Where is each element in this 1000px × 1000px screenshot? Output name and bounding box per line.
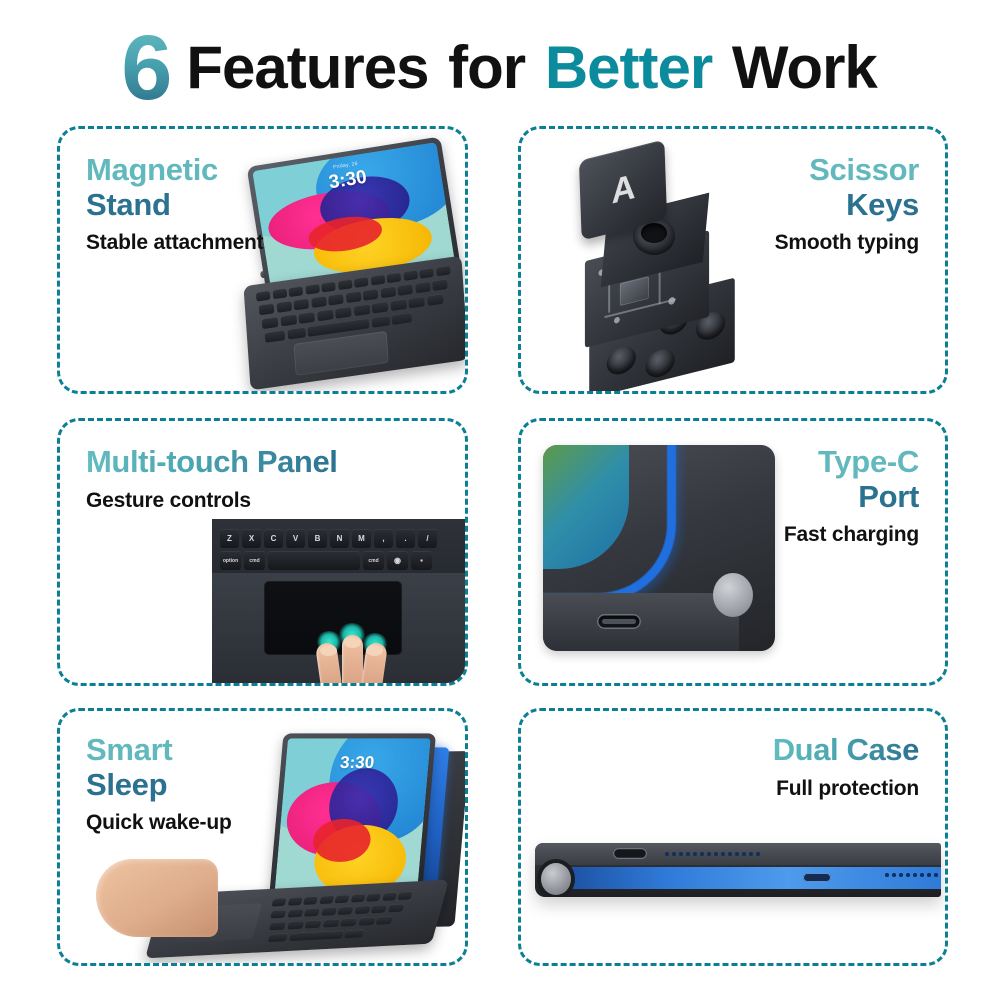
key-v: V [286, 529, 305, 548]
card2-text-block: Scissor Keys Smooth typing [775, 153, 919, 255]
key-x: X [242, 529, 261, 548]
title-word-for: for [448, 34, 525, 101]
key-option: option [220, 551, 241, 570]
key-z: Z [220, 529, 239, 548]
key-arrow: ▪ [411, 551, 432, 570]
card5-title-line2: Sleep [86, 768, 232, 803]
page-header: 6 Features for Better Work [0, 22, 1000, 112]
key-post-icon [646, 346, 675, 380]
key-n: N [330, 529, 349, 548]
card2-title-line2: Keys [775, 188, 919, 223]
card4-subtitle: Fast charging [784, 523, 919, 547]
card4-artwork [543, 445, 775, 651]
card6-text-block: Dual Case Full protection [773, 733, 919, 801]
card4-text-block: Type-C Port Fast charging [784, 445, 919, 547]
title-word-better: Better [545, 34, 712, 101]
card5-subtitle: Quick wake-up [86, 811, 232, 835]
keyboard-row [269, 916, 393, 930]
speaker-grille-icon [665, 852, 760, 856]
title-word-features: Features [186, 34, 428, 101]
feature-card-type-c-port[interactable]: Type-C Port Fast charging [518, 418, 948, 686]
key-period: . [396, 529, 415, 548]
hand-icon [96, 859, 218, 937]
key-spacebar [268, 551, 360, 570]
tablet-screen: 3:30 [273, 738, 430, 905]
key-post-icon [607, 344, 636, 378]
tablet-blue-edge [559, 867, 941, 889]
card5-title-line1: Smart [86, 733, 232, 768]
key-b: B [308, 529, 327, 548]
page-title: Features for Better Work [184, 33, 878, 102]
speaker-grille-icon [885, 873, 938, 877]
keyboard-trackpad [293, 331, 388, 376]
card1-subtitle: Stable attachment [86, 231, 263, 255]
tablet-wallpaper: 3:30 [273, 738, 430, 905]
key-c: C [264, 529, 283, 548]
title-word-work: Work [732, 34, 877, 101]
key-comma: , [374, 529, 393, 548]
key-hub-hole-icon [641, 223, 667, 243]
card3-subtitle: Gesture controls [86, 489, 338, 513]
key-command-right: cmd [363, 551, 384, 570]
lockscreen-clock: 3:30 [285, 753, 429, 773]
card6-subtitle: Full protection [773, 777, 919, 801]
card2-subtitle: Smooth typing [775, 231, 919, 255]
usb-c-port-icon [803, 873, 831, 882]
features-grid: Magnetic Stand Stable attachment [57, 126, 948, 966]
feature-card-magnetic-stand[interactable]: Magnetic Stand Stable attachment [57, 126, 468, 394]
card3-text-block: Multi-touch Panel Gesture controls [86, 445, 338, 513]
blue-case-edge [543, 445, 676, 602]
key-globe: ◉ [387, 551, 408, 570]
feature-card-scissor-keys[interactable]: Scissor Keys Smooth typing [518, 126, 948, 394]
card3-artwork: Z X C V B N M , . / option cmd cmd ◉ ▪ [212, 519, 468, 686]
card3-title-line1: Multi-touch Panel [86, 445, 338, 480]
card1-title-line2: Stand [86, 188, 263, 223]
card4-title-line1: Type-C [784, 445, 919, 480]
hinge-button-icon [541, 863, 571, 895]
card5-text-block: Smart Sleep Quick wake-up [86, 733, 232, 835]
hinge-button-icon [713, 573, 753, 617]
card4-title-line2: Port [784, 480, 919, 515]
key-m: M [352, 529, 371, 548]
case-bottom-edge [543, 593, 739, 651]
key-command-left: cmd [244, 551, 265, 570]
case-top-port-icon [613, 848, 647, 859]
keyboard-modifier-row: option cmd cmd ◉ ▪ [220, 551, 432, 570]
feature-card-multi-touch-panel[interactable]: Multi-touch Panel Gesture controls Z X C… [57, 418, 468, 686]
usb-c-port-icon [597, 614, 641, 629]
index-finger-icon [194, 885, 252, 915]
keyboard-letter-row: Z X C V B N M , . / [220, 529, 437, 548]
feature-card-smart-sleep[interactable]: Smart Sleep Quick wake-up 3:30 [57, 708, 468, 966]
card6-title-line1: Dual Case [773, 733, 919, 768]
card6-artwork [535, 843, 941, 897]
card2-title-line1: Scissor [775, 153, 919, 188]
feature-card-dual-case[interactable]: Dual Case Full protection [518, 708, 948, 966]
headline-number: 6 [121, 25, 170, 112]
card1-text-block: Magnetic Stand Stable attachment [86, 153, 263, 255]
keycap-letter: A [576, 160, 669, 219]
keyboard-row [268, 929, 365, 942]
key-slash: / [418, 529, 437, 548]
card1-title-line1: Magnetic [86, 153, 263, 188]
